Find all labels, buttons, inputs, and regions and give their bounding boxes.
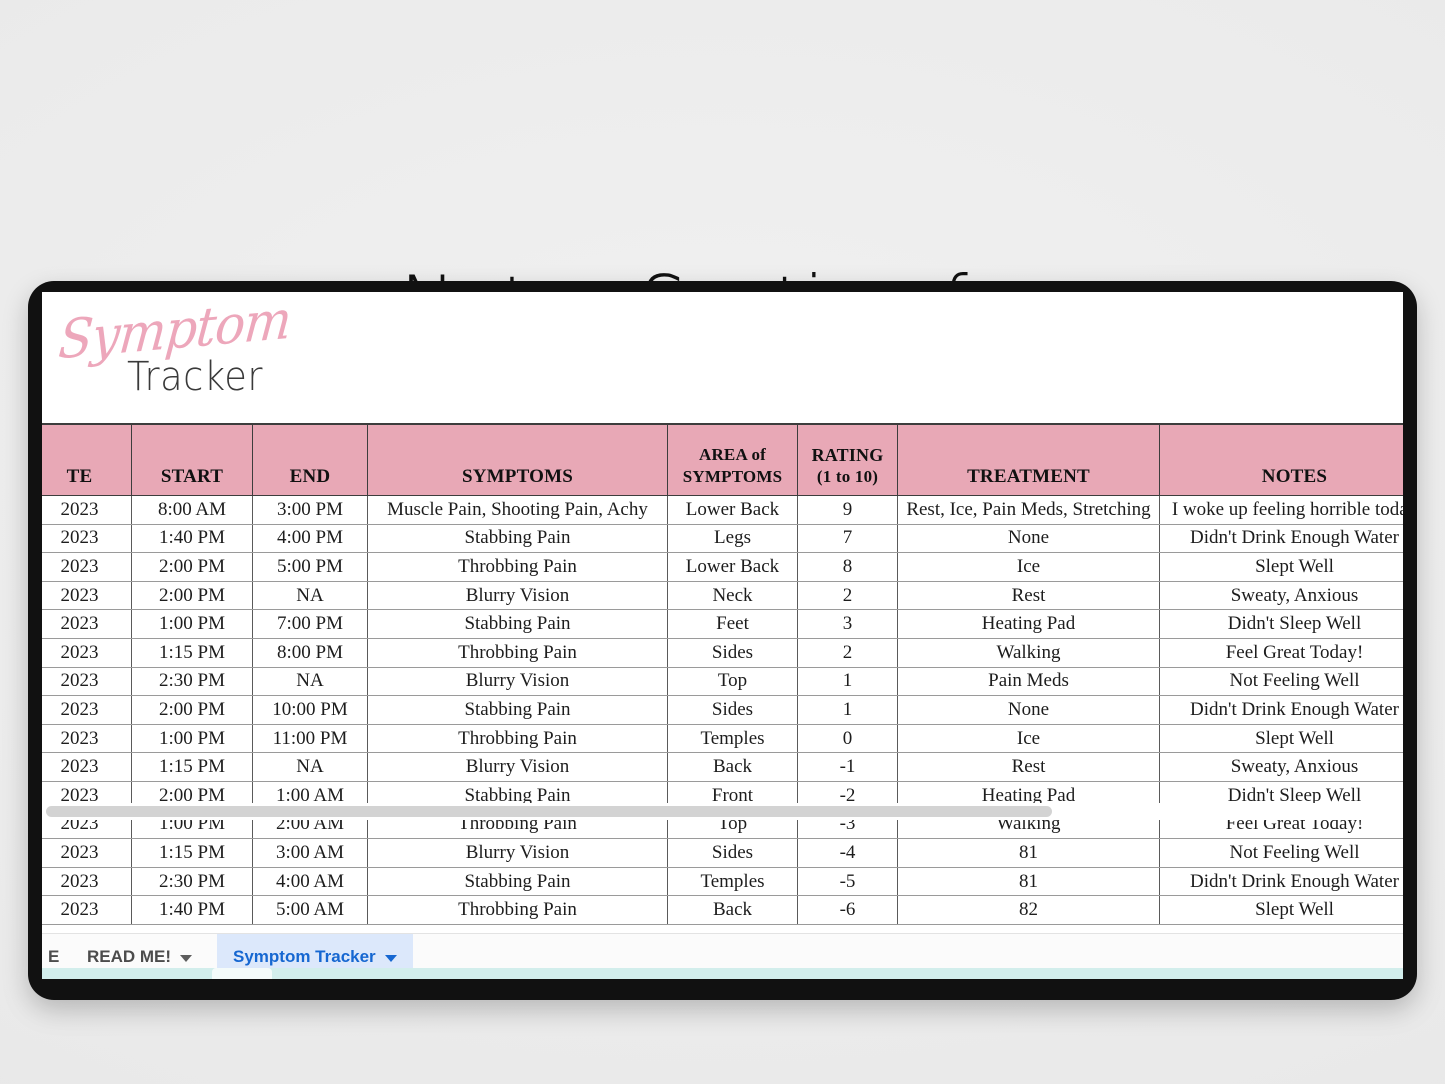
cell-area[interactable]: Sides (668, 696, 798, 725)
table-row[interactable]: 20232:30 PM4:00 AMStabbing PainTemples-5… (42, 867, 1403, 896)
cell-symptoms[interactable]: Stabbing Pain (368, 610, 668, 639)
symptom-table: TE START END SYMPTOMS AREA of SYMPTOMS R… (42, 423, 1403, 925)
cell-rating[interactable]: 1 (798, 667, 898, 696)
cell-treatment[interactable]: Walking (898, 638, 1160, 667)
table-row[interactable]: 20232:30 PMNABlurry VisionTop1Pain MedsN… (42, 667, 1403, 696)
cell-area[interactable]: Lower Back (668, 496, 798, 525)
cell-start[interactable]: 2:30 PM (132, 667, 253, 696)
cell-symptoms[interactable]: Stabbing Pain (368, 524, 668, 553)
cell-area[interactable]: Temples (668, 724, 798, 753)
horizontal-scrollbar-thumb[interactable] (46, 806, 1052, 817)
cell-end[interactable]: 3:00 AM (253, 839, 368, 868)
cell-date[interactable]: 2023 (42, 667, 132, 696)
column-header-date[interactable]: TE (42, 424, 132, 496)
cell-notes[interactable]: Didn't Drink Enough Water (1160, 696, 1404, 725)
cell-notes[interactable]: Slept Well (1160, 724, 1404, 753)
table-row[interactable]: 20231:15 PMNABlurry VisionBack-1RestSwea… (42, 753, 1403, 782)
cell-end[interactable]: 4:00 PM (253, 524, 368, 553)
cell-rating[interactable]: -6 (798, 896, 898, 925)
column-header-area-line-2: SYMPTOMS (672, 466, 793, 488)
cell-date[interactable]: 2023 (42, 610, 132, 639)
column-header-area-line-1: AREA of (699, 445, 766, 464)
cell-rating[interactable]: 0 (798, 724, 898, 753)
column-header-rating-line-2: (1 to 10) (802, 466, 893, 488)
column-header-rating-line-1: RATING (812, 445, 884, 465)
cell-start[interactable]: 1:40 PM (132, 896, 253, 925)
device-screen: Symptom Tracker TE START END SYMP (42, 292, 1403, 979)
cell-notes[interactable]: Didn't Drink Enough Water (1160, 524, 1404, 553)
chevron-down-icon[interactable] (180, 955, 192, 962)
cell-notes[interactable]: Didn't Sleep Well (1160, 610, 1404, 639)
logo-subtitle-text: Tracker (127, 355, 263, 399)
cell-end[interactable]: 11:00 PM (253, 724, 368, 753)
table-row[interactable]: 20231:40 PM4:00 PMStabbing PainLegs7None… (42, 524, 1403, 553)
cell-area[interactable]: Lower Back (668, 553, 798, 582)
cell-treatment[interactable]: Heating Pad (898, 610, 1160, 639)
cell-notes[interactable]: Didn't Drink Enough Water (1160, 867, 1404, 896)
cell-date[interactable]: 2023 (42, 553, 132, 582)
column-header-area-of-symptoms[interactable]: AREA of SYMPTOMS (668, 424, 798, 496)
table-row[interactable]: 20231:00 PM7:00 PMStabbing PainFeet3Heat… (42, 610, 1403, 639)
cell-end[interactable]: 7:00 PM (253, 610, 368, 639)
cell-treatment[interactable]: None (898, 524, 1160, 553)
table-row[interactable]: 20231:15 PM8:00 PMThrobbing PainSides2Wa… (42, 638, 1403, 667)
cell-start[interactable]: 2:00 PM (132, 581, 253, 610)
sheet-tab-clipped-label: E (48, 947, 59, 967)
cell-area[interactable]: Top (668, 667, 798, 696)
spreadsheet-grid[interactable]: TE START END SYMPTOMS AREA of SYMPTOMS R… (42, 423, 1403, 979)
cell-rating[interactable]: -4 (798, 839, 898, 868)
table-row[interactable]: 20231:40 PM5:00 AMThrobbing PainBack-682… (42, 896, 1403, 925)
cell-symptoms[interactable]: Throbbing Pain (368, 553, 668, 582)
cell-end[interactable]: 5:00 AM (253, 896, 368, 925)
cell-notes[interactable]: Not Feeling Well (1160, 667, 1404, 696)
cell-rating[interactable]: 2 (798, 581, 898, 610)
column-header-notes[interactable]: NOTES (1160, 424, 1404, 496)
cell-notes[interactable]: Sweaty, Anxious (1160, 753, 1404, 782)
cell-treatment[interactable]: Rest (898, 581, 1160, 610)
cell-area[interactable]: Legs (668, 524, 798, 553)
cell-date[interactable]: 2023 (42, 638, 132, 667)
cell-date[interactable]: 2023 (42, 524, 132, 553)
cell-date[interactable]: 2023 (42, 581, 132, 610)
cell-area[interactable]: Sides (668, 638, 798, 667)
cell-notes[interactable]: Feel Great Today! (1160, 638, 1404, 667)
spreadsheet-logo-area: Symptom Tracker (42, 292, 1403, 423)
cell-symptoms[interactable]: Stabbing Pain (368, 867, 668, 896)
column-header-symptoms[interactable]: SYMPTOMS (368, 424, 668, 496)
table-row[interactable]: 20238:00 AM3:00 PMMuscle Pain, Shooting … (42, 496, 1403, 525)
cell-treatment[interactable]: Rest, Ice, Pain Meds, Stretching (898, 496, 1160, 525)
cell-date[interactable]: 2023 (42, 496, 132, 525)
column-header-end[interactable]: END (253, 424, 368, 496)
table-body: 20238:00 AM3:00 PMMuscle Pain, Shooting … (42, 496, 1403, 925)
horizontal-scrollbar-track[interactable] (42, 803, 1403, 820)
cell-date[interactable]: 2023 (42, 724, 132, 753)
cell-start[interactable]: 1:15 PM (132, 753, 253, 782)
cell-treatment[interactable]: None (898, 696, 1160, 725)
cell-date[interactable]: 2023 (42, 696, 132, 725)
cell-notes[interactable]: I woke up feeling horrible today (1160, 496, 1404, 525)
table-row[interactable]: 20231:00 PM11:00 PMThrobbing PainTemples… (42, 724, 1403, 753)
cell-end[interactable]: NA (253, 753, 368, 782)
cell-end[interactable]: 10:00 PM (253, 696, 368, 725)
cell-area[interactable]: Back (668, 753, 798, 782)
cell-area[interactable]: Feet (668, 610, 798, 639)
table-row[interactable]: 20232:00 PM10:00 PMStabbing PainSides1No… (42, 696, 1403, 725)
cell-end[interactable]: 5:00 PM (253, 553, 368, 582)
cell-rating[interactable]: 2 (798, 638, 898, 667)
cell-start[interactable]: 1:00 PM (132, 610, 253, 639)
bottom-accent-notch (212, 968, 272, 979)
cell-symptoms[interactable]: Blurry Vision (368, 581, 668, 610)
cell-symptoms[interactable]: Blurry Vision (368, 839, 668, 868)
cell-area[interactable]: Back (668, 896, 798, 925)
cell-rating[interactable]: 1 (798, 696, 898, 725)
page-root: Notes Section for Writing Symptoms Sympt… (0, 0, 1445, 1084)
sheet-tab-read-me-label: READ ME! (87, 947, 171, 967)
cell-treatment[interactable]: Pain Meds (898, 667, 1160, 696)
cell-rating[interactable]: 9 (798, 496, 898, 525)
cell-area[interactable]: Temples (668, 867, 798, 896)
cell-end[interactable]: 3:00 PM (253, 496, 368, 525)
cell-start[interactable]: 1:15 PM (132, 839, 253, 868)
cell-end[interactable]: 4:00 AM (253, 867, 368, 896)
sheet-tab-symptom-tracker-label: Symptom Tracker (233, 947, 376, 967)
cell-symptoms[interactable]: Stabbing Pain (368, 696, 668, 725)
device-bezel: Symptom Tracker TE START END SYMP (28, 281, 1417, 1000)
cell-start[interactable]: 1:15 PM (132, 638, 253, 667)
cell-date[interactable]: 2023 (42, 896, 132, 925)
cell-end[interactable]: 8:00 PM (253, 638, 368, 667)
cell-date[interactable]: 2023 (42, 867, 132, 896)
cell-rating[interactable]: 7 (798, 524, 898, 553)
cell-area[interactable]: Neck (668, 581, 798, 610)
table-row[interactable]: 20232:00 PM5:00 PMThrobbing PainLower Ba… (42, 553, 1403, 582)
cell-symptoms[interactable]: Throbbing Pain (368, 638, 668, 667)
cell-treatment[interactable]: Ice (898, 553, 1160, 582)
cell-treatment[interactable]: 82 (898, 896, 1160, 925)
cell-notes[interactable]: Not Feeling Well (1160, 839, 1404, 868)
column-header-start[interactable]: START (132, 424, 253, 496)
cell-end[interactable]: NA (253, 667, 368, 696)
cell-symptoms[interactable]: Blurry Vision (368, 753, 668, 782)
cell-start[interactable]: 2:00 PM (132, 696, 253, 725)
column-header-rating[interactable]: RATING (1 to 10) (798, 424, 898, 496)
cell-date[interactable]: 2023 (42, 839, 132, 868)
cell-start[interactable]: 8:00 AM (132, 496, 253, 525)
cell-symptoms[interactable]: Blurry Vision (368, 667, 668, 696)
table-row[interactable]: 20232:00 PMNABlurry VisionNeck2RestSweat… (42, 581, 1403, 610)
cell-treatment[interactable]: Ice (898, 724, 1160, 753)
cell-start[interactable]: 1:00 PM (132, 724, 253, 753)
cell-treatment[interactable]: 81 (898, 839, 1160, 868)
cell-date[interactable]: 2023 (42, 753, 132, 782)
cell-start[interactable]: 2:30 PM (132, 867, 253, 896)
cell-symptoms[interactable]: Muscle Pain, Shooting Pain, Achy (368, 496, 668, 525)
cell-notes[interactable]: Slept Well (1160, 553, 1404, 582)
cell-start[interactable]: 2:00 PM (132, 553, 253, 582)
table-row[interactable]: 20231:15 PM3:00 AMBlurry VisionSides-481… (42, 839, 1403, 868)
cell-area[interactable]: Sides (668, 839, 798, 868)
column-header-treatment[interactable]: TREATMENT (898, 424, 1160, 496)
cell-rating[interactable]: 3 (798, 610, 898, 639)
cell-notes[interactable]: Slept Well (1160, 896, 1404, 925)
chevron-down-icon[interactable] (385, 955, 397, 962)
cell-treatment[interactable]: 81 (898, 867, 1160, 896)
cell-rating[interactable]: -5 (798, 867, 898, 896)
cell-rating[interactable]: 8 (798, 553, 898, 582)
cell-symptoms[interactable]: Throbbing Pain (368, 724, 668, 753)
cell-end[interactable]: NA (253, 581, 368, 610)
cell-rating[interactable]: -1 (798, 753, 898, 782)
cell-treatment[interactable]: Rest (898, 753, 1160, 782)
table-header-row: TE START END SYMPTOMS AREA of SYMPTOMS R… (42, 424, 1403, 496)
cell-notes[interactable]: Sweaty, Anxious (1160, 581, 1404, 610)
cell-start[interactable]: 1:40 PM (132, 524, 253, 553)
cell-symptoms[interactable]: Throbbing Pain (368, 896, 668, 925)
